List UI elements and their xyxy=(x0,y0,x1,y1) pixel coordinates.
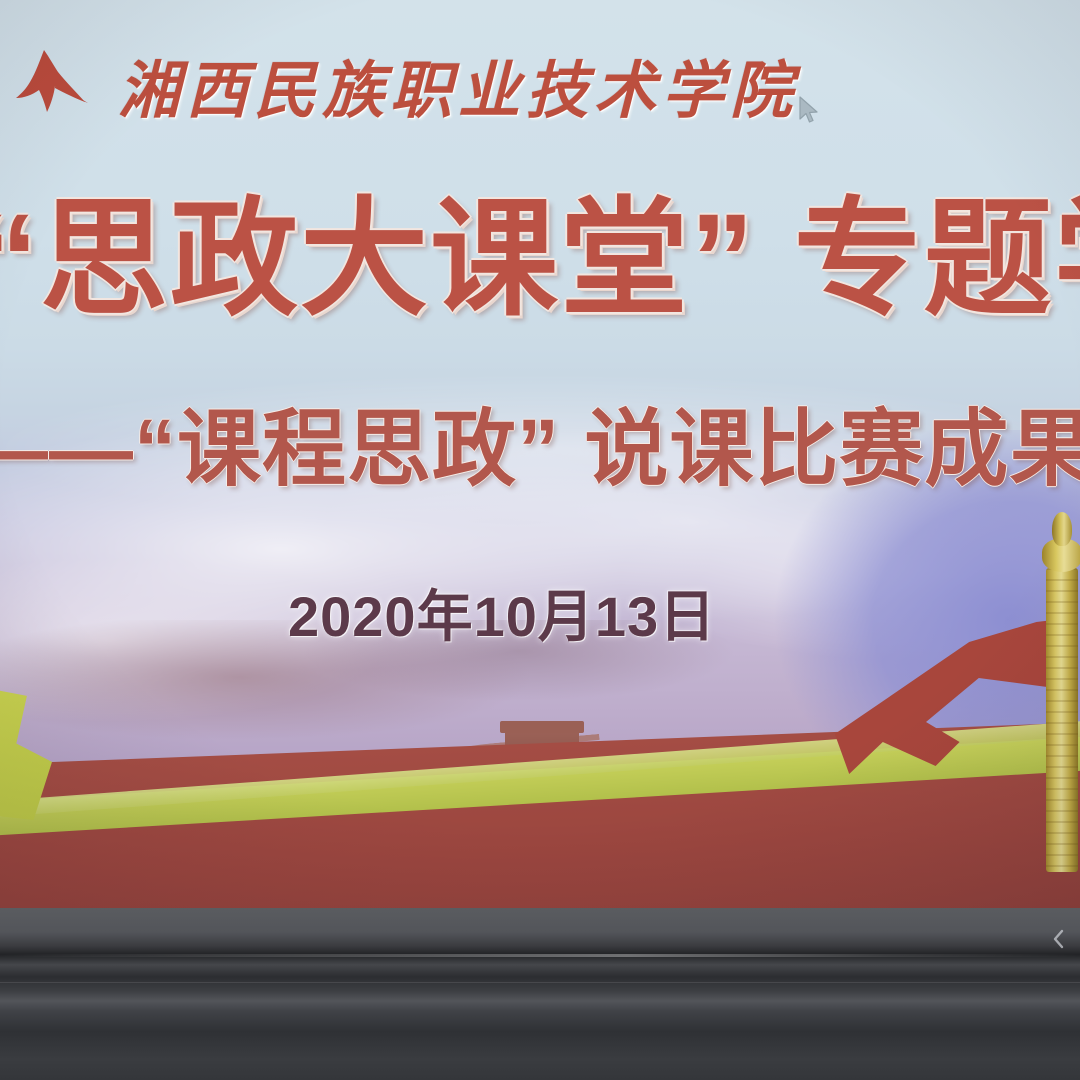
column-knob xyxy=(1052,512,1072,546)
bezel-glint xyxy=(0,954,1080,957)
column-shaft xyxy=(1046,568,1078,872)
institution-name: 湘西民族职业技术学院 xyxy=(118,40,798,130)
golden-huabiao-column-icon xyxy=(1040,512,1080,872)
slide-subheadline: ——“课程思政” 说课比赛成果展示 xyxy=(0,382,1012,503)
institution-header: 湘西民族职业技术学院 xyxy=(0,34,820,144)
projection-screen: 湘西民族职业技术学院 “思政大课堂” 专题学习 ——“课程思政” 说课比赛成果展… xyxy=(0,0,1080,915)
slide-date: 2020年10月13日 xyxy=(288,572,716,653)
mouse-pointer-icon xyxy=(798,96,820,126)
projected-slide-photo: 湘西民族职业技术学院 “思政大课堂” 专题学习 ——“课程思政” 说课比赛成果展… xyxy=(0,0,1080,1080)
flying-bird-logo-icon xyxy=(14,46,98,124)
display-bezel xyxy=(0,908,1080,1080)
chevron-left-icon[interactable] xyxy=(1046,926,1072,952)
slide-headline: “思政大课堂” 专题学习 xyxy=(0,188,1014,331)
bezel-lip xyxy=(0,982,1080,983)
